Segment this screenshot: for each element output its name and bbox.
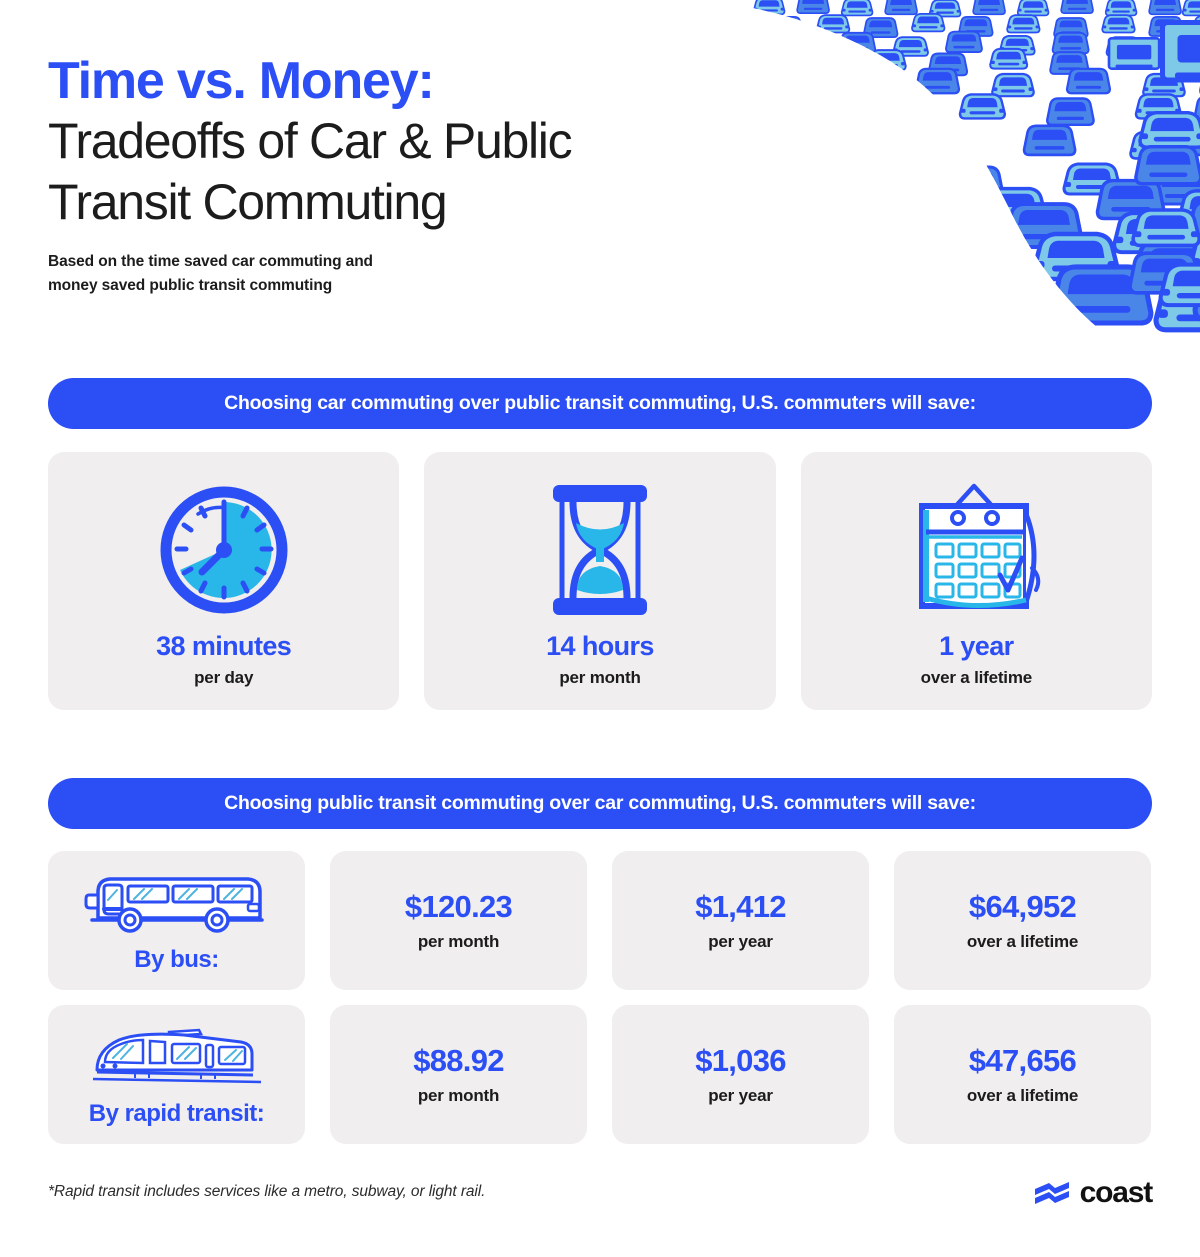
money-value-transit-lifetime: $47,656 — [969, 1043, 1076, 1079]
coast-logo: coast — [1033, 1176, 1152, 1210]
money-period-transit-year: per year — [708, 1086, 773, 1106]
money-value-bus-year: $1,412 — [695, 889, 786, 925]
stat-label-per-month: per month — [559, 668, 640, 688]
stat-value-per-month: 14 hours — [546, 631, 654, 662]
banner-transit-commuting: Choosing public transit commuting over c… — [48, 778, 1152, 829]
money-period-bus-month: per month — [418, 932, 499, 952]
footnote: *Rapid transit includes services like a … — [48, 1183, 485, 1201]
mode-label-bus: By bus: — [134, 946, 219, 974]
bus-icon — [84, 864, 269, 936]
mode-card-rapid-transit: By rapid transit: — [48, 1005, 305, 1144]
money-value-transit-month: $88.92 — [413, 1043, 504, 1079]
page-title-line2: Tradeoffs of Car & Public — [48, 112, 808, 171]
page-header: Time vs. Money: Tradeoffs of Car & Publi… — [48, 52, 808, 298]
page-title-line3: Transit Commuting — [48, 173, 808, 232]
stat-value-per-day: 38 minutes — [156, 631, 291, 662]
money-card-bus-month: $120.23 per month — [330, 851, 587, 990]
stat-value-lifetime: 1 year — [939, 631, 1013, 662]
page-subtitle: Based on the time saved car commuting an… — [48, 250, 808, 298]
mode-label-rapid-transit: By rapid transit: — [89, 1100, 265, 1128]
stat-label-lifetime: over a lifetime — [921, 668, 1032, 688]
money-period-bus-year: per year — [708, 932, 773, 952]
banner-car-label: Choosing car commuting over public trans… — [224, 392, 976, 415]
money-card-transit-year: $1,036 per year — [612, 1005, 869, 1144]
money-period-transit-lifetime: over a lifetime — [967, 1086, 1078, 1106]
money-card-transit-lifetime: $47,656 over a lifetime — [894, 1005, 1151, 1144]
clock-icon — [154, 475, 294, 625]
hourglass-icon — [535, 475, 665, 625]
money-period-bus-lifetime: over a lifetime — [967, 932, 1078, 952]
time-savings-row: 38 minutes per day 14 hours per month — [48, 452, 1152, 710]
banner-car-commuting: Choosing car commuting over public trans… — [48, 378, 1152, 429]
banner-transit-label: Choosing public transit commuting over c… — [224, 792, 976, 815]
coast-logo-text: coast — [1080, 1176, 1152, 1210]
money-value-bus-month: $120.23 — [405, 889, 512, 925]
tram-icon — [89, 1018, 264, 1090]
calendar-icon — [896, 475, 1056, 625]
wave-lines-logo-icon — [1033, 1180, 1073, 1206]
money-period-transit-month: per month — [418, 1086, 499, 1106]
stat-card-per-month: 14 hours per month — [424, 452, 775, 710]
stat-label-per-day: per day — [194, 668, 253, 688]
page-title-highlight: Time vs. Money: — [48, 52, 808, 110]
money-card-bus-year: $1,412 per year — [612, 851, 869, 990]
money-card-bus-lifetime: $64,952 over a lifetime — [894, 851, 1151, 990]
stat-card-per-day: 38 minutes per day — [48, 452, 399, 710]
page-subtitle-line2: money saved public transit commuting — [48, 274, 808, 298]
money-savings-grid: By bus: $120.23 per month $1,412 per yea… — [48, 851, 1152, 1144]
mode-card-bus: By bus: — [48, 851, 305, 990]
money-value-bus-lifetime: $64,952 — [969, 889, 1076, 925]
money-value-transit-year: $1,036 — [695, 1043, 786, 1079]
stat-card-lifetime: 1 year over a lifetime — [801, 452, 1152, 710]
page-subtitle-line1: Based on the time saved car commuting an… — [48, 250, 808, 274]
money-card-transit-month: $88.92 per month — [330, 1005, 587, 1144]
